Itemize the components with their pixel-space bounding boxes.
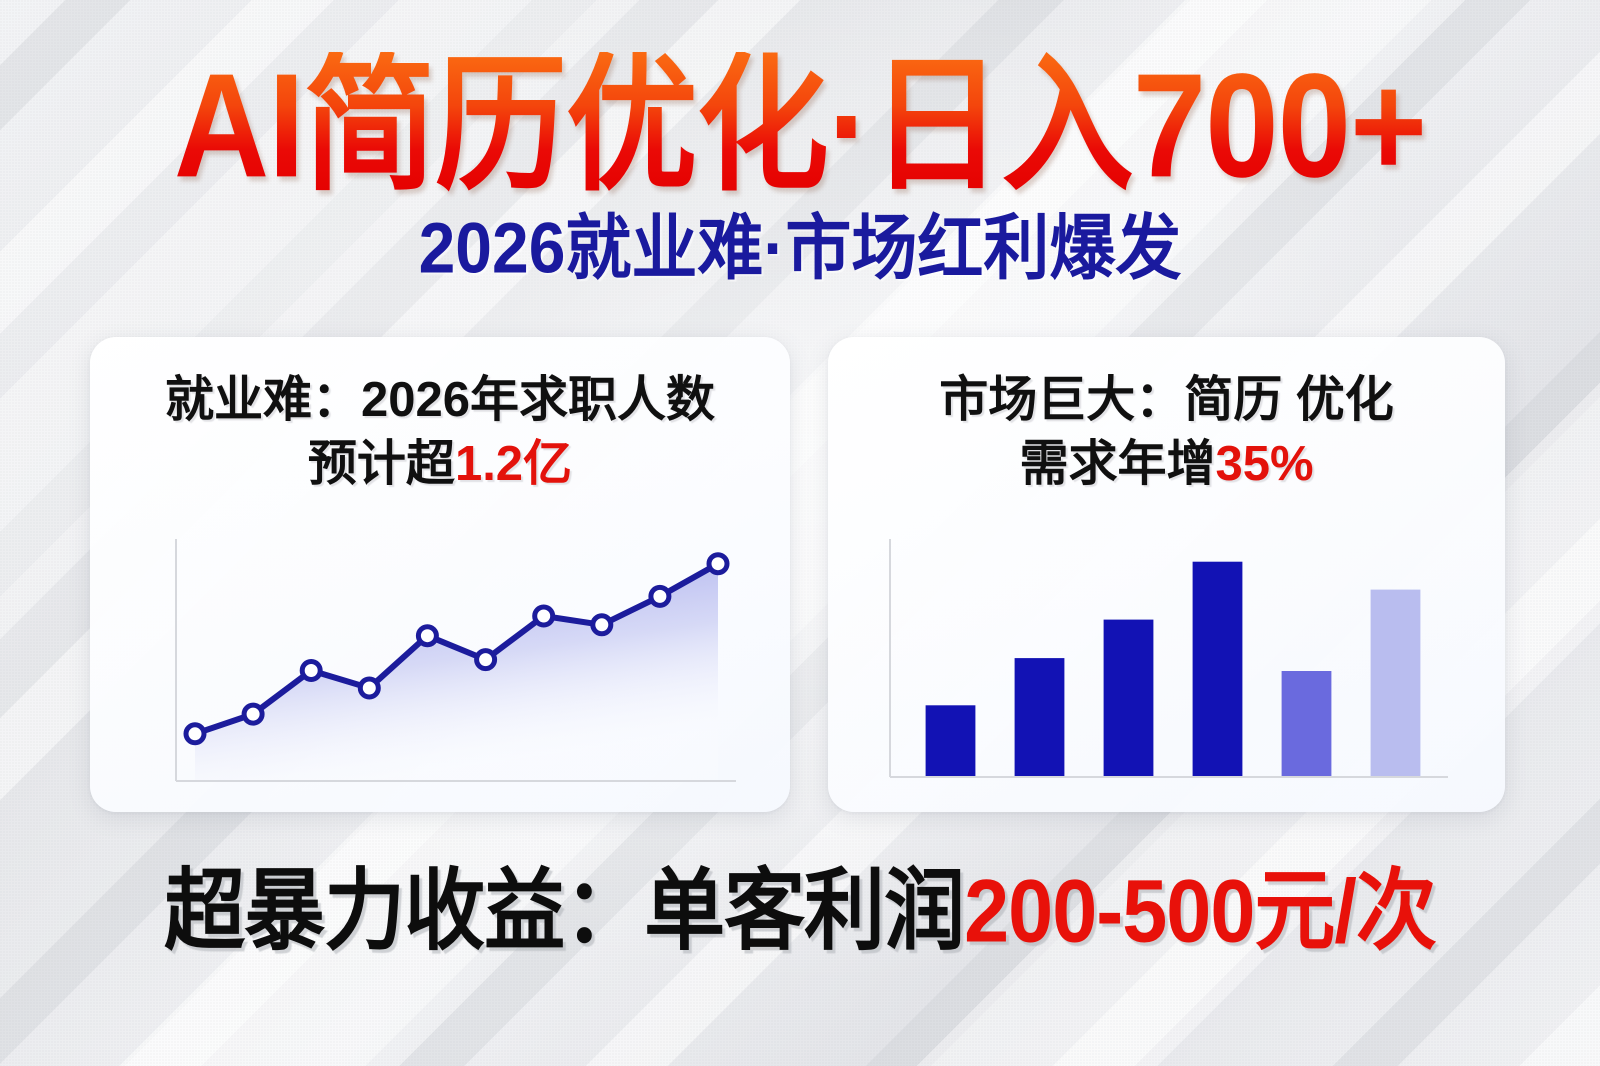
card-title-line2-value: 35% bbox=[1215, 437, 1313, 491]
line-chart-svg bbox=[90, 533, 790, 812]
poster-root: AI简历优化·日入700+ 2026就业难·市场红利爆发 就业难：2026年求职… bbox=[0, 0, 1600, 1066]
line-chart-point bbox=[709, 555, 727, 573]
bar-chart-bar bbox=[926, 705, 976, 776]
card-title-line2-value: 1.2亿 bbox=[455, 437, 572, 491]
line-chart-point bbox=[535, 607, 553, 625]
bottom-banner-label: 超暴力收益：单客利润 bbox=[164, 863, 964, 962]
card-title-line1: 市场巨大：简历 优化 bbox=[939, 373, 1394, 427]
card-title-employment: 就业难：2026年求职人数 预计超1.2亿 bbox=[90, 369, 790, 496]
bar-chart-bars bbox=[926, 562, 1421, 776]
line-chart-area bbox=[195, 564, 718, 780]
bar-chart-bar bbox=[1015, 658, 1065, 776]
line-chart-container bbox=[90, 533, 790, 812]
line-chart-point bbox=[651, 587, 669, 605]
bar-chart-svg bbox=[828, 533, 1505, 812]
page-subtitle: 2026就业难·市场红利爆发 bbox=[419, 212, 1182, 283]
bottom-banner-value: 200-500元/次 bbox=[964, 863, 1436, 962]
line-chart-point bbox=[186, 725, 204, 743]
bar-chart-bar bbox=[1282, 671, 1332, 776]
bar-chart-container bbox=[828, 533, 1505, 812]
line-chart-point bbox=[302, 662, 320, 680]
line-chart-point bbox=[360, 679, 378, 697]
bottom-banner-text: 超暴力收益：单客利润200-500元/次 bbox=[164, 868, 1436, 957]
bar-chart-bar bbox=[1371, 590, 1421, 776]
bar-chart-bar bbox=[1193, 562, 1243, 776]
bottom-banner: 超暴力收益：单客利润200-500元/次 bbox=[0, 868, 1600, 949]
stat-card-employment: 就业难：2026年求职人数 预计超1.2亿 bbox=[90, 337, 790, 812]
card-title-market: 市场巨大：简历 优化 需求年增35% bbox=[828, 369, 1505, 496]
card-title-line2-prefix: 预计超 bbox=[308, 437, 455, 491]
stat-card-market: 市场巨大：简历 优化 需求年增35% bbox=[828, 337, 1505, 812]
card-title-line2-prefix: 需求年增 bbox=[1019, 437, 1215, 491]
headline-container: AI简历优化·日入700+ bbox=[0, 52, 1600, 184]
subheadline-container: 2026就业难·市场红利爆发 bbox=[0, 212, 1600, 278]
line-chart-point bbox=[477, 651, 495, 669]
line-chart-point bbox=[593, 616, 611, 634]
bar-chart-bar bbox=[1104, 620, 1154, 776]
card-title-line1: 就业难：2026年求职人数 bbox=[165, 373, 715, 427]
page-title: AI简历优化·日入700+ bbox=[174, 52, 1426, 200]
line-chart-point bbox=[418, 627, 436, 645]
line-chart-point bbox=[244, 705, 262, 723]
